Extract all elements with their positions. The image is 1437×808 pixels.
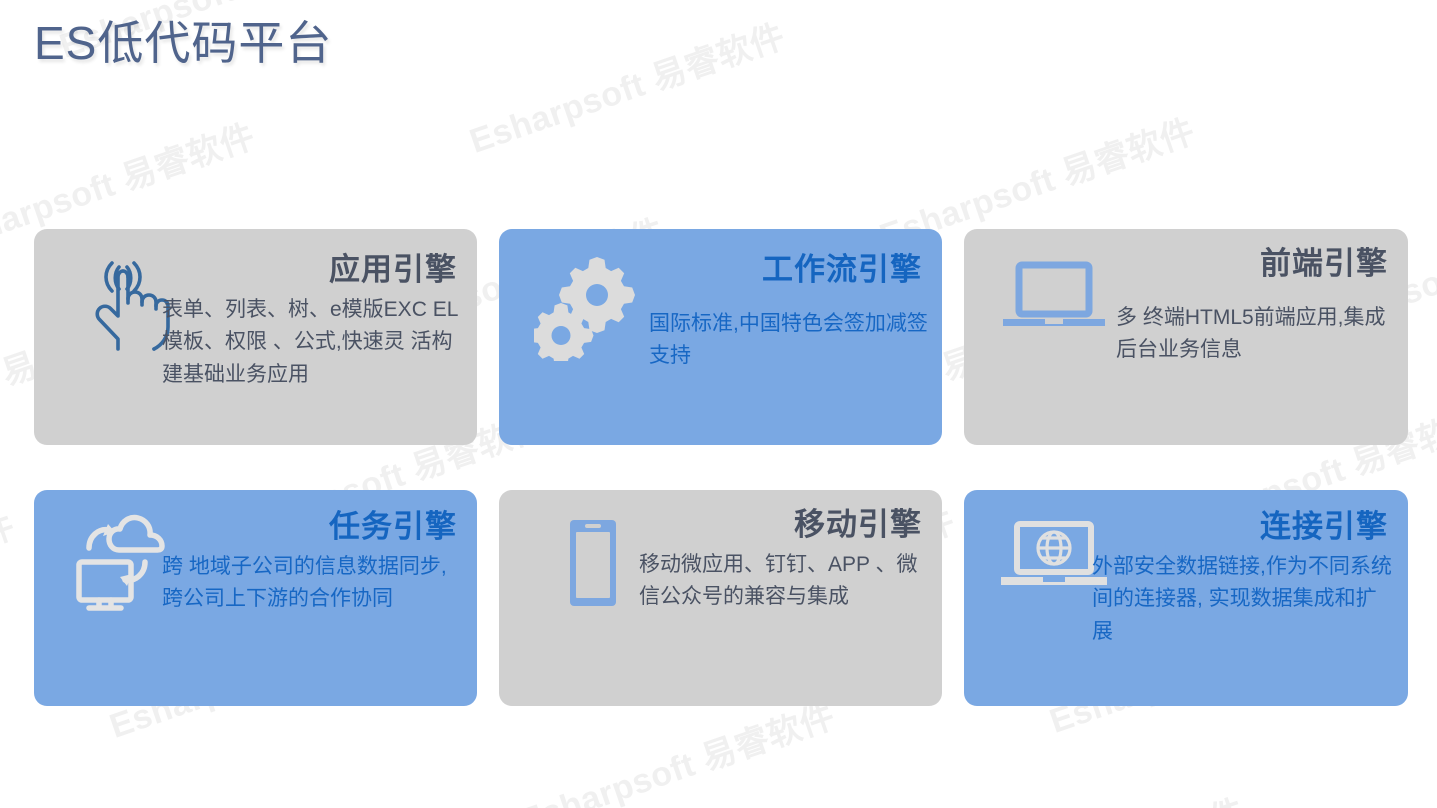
gears-icon [529,253,649,363]
card-app-engine-heading: 应用引擎 [162,251,457,290]
slide-canvas: ES低代码平台 [0,0,1437,808]
card-connect-engine-description: 外部安全数据链接,作为不同系统间的连接器, 实现数据集成和扩展 [1092,551,1394,649]
card-workflow-engine-heading: 工作流引擎 [649,251,922,290]
page-title: ES低代码平台 [34,16,332,71]
card-mobile-engine-heading: 移动引擎 [639,506,922,545]
card-task-engine[interactable]: 任务引擎 跨 地域子公司的信息数据同步,跨公司上下游的合作协同 [34,490,477,706]
card-mobile-engine-description: 移动微应用、钉钉、APP 、微信公众号的兼容与集成 [639,549,928,614]
card-workflow-engine[interactable]: 工作流引擎 国际标准,中国特色会签加减签支持 [499,229,942,445]
card-app-engine-body: 应用引擎 表单、列表、树、e模版EXC EL模板、权限 、公式,快速灵 活构建基… [162,251,463,391]
card-app-engine[interactable]: 应用引擎 表单、列表、树、e模版EXC EL模板、权限 、公式,快速灵 活构建基… [34,229,477,445]
card-connect-engine[interactable]: 连接引擎 外部安全数据链接,作为不同系统间的连接器, 实现数据集成和扩展 [964,490,1408,706]
smartphone-icon [529,514,649,624]
card-frontend-engine[interactable]: 前端引擎 多 终端HTML5前端应用,集成后台业务信息 [964,229,1408,445]
card-task-engine-description: 跨 地域子公司的信息数据同步,跨公司上下游的合作协同 [162,551,463,616]
card-task-engine-body: 任务引擎 跨 地域子公司的信息数据同步,跨公司上下游的合作协同 [162,508,463,616]
laptop-icon [994,253,1114,363]
card-workflow-engine-body: 工作流引擎 国际标准,中国特色会签加减签支持 [649,251,928,373]
card-frontend-engine-description: 多 终端HTML5前端应用,集成后台业务信息 [1116,302,1394,367]
card-frontend-engine-body: 前端引擎 多 终端HTML5前端应用,集成后台业务信息 [1116,245,1394,367]
card-connect-engine-body: 连接引擎 外部安全数据链接,作为不同系统间的连接器, 实现数据集成和扩展 [1092,508,1394,648]
engine-card-grid: 应用引擎 表单、列表、树、e模版EXC EL模板、权限 、公式,快速灵 活构建基… [34,229,1408,706]
card-app-engine-description: 表单、列表、树、e模版EXC EL模板、权限 、公式,快速灵 活构建基础业务应用 [162,294,463,392]
card-mobile-engine-body: 移动引擎 移动微应用、钉钉、APP 、微信公众号的兼容与集成 [639,506,928,614]
card-mobile-engine[interactable]: 移动引擎 移动微应用、钉钉、APP 、微信公众号的兼容与集成 [499,490,942,706]
card-workflow-engine-description: 国际标准,中国特色会签加减签支持 [649,308,928,373]
card-frontend-engine-heading: 前端引擎 [1116,245,1388,284]
card-connect-engine-heading: 连接引擎 [1092,508,1388,547]
card-task-engine-heading: 任务引擎 [162,508,457,547]
